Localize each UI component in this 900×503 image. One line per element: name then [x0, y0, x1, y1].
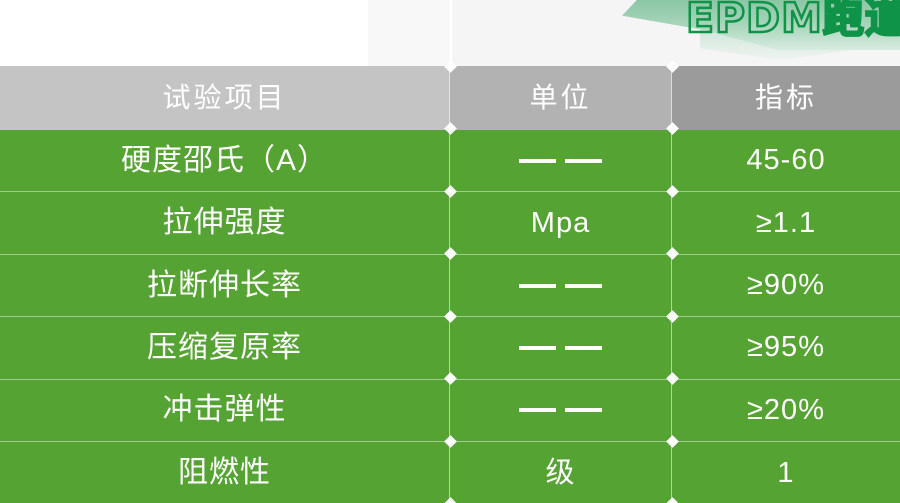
table-header-cell-unit: 单位: [450, 66, 672, 130]
table-cell-text: 45-60: [746, 146, 825, 175]
table-cell-item: 硬度邵氏（A）: [0, 130, 450, 192]
em-dash-pair-icon: [519, 159, 602, 163]
spec-table: 试验项目单位指标硬度邵氏（A）45-60拉伸强度Mpa≥1.1拉断伸长率≥90%…: [0, 66, 900, 503]
table-cell-item: 压缩复原率: [0, 317, 450, 379]
table-cell-value: ≥1.1: [672, 192, 900, 254]
table-row: 冲击弹性≥20%: [0, 380, 900, 442]
table-cell-text: ≥20%: [747, 396, 825, 425]
table-row: 压缩复原率≥95%: [0, 317, 900, 379]
table-cell-text: 冲击弹性: [163, 395, 287, 425]
table-cell-unit: [450, 317, 672, 379]
table-cell-unit: Mpa: [450, 192, 672, 254]
table-cell-text: ≥90%: [747, 271, 825, 300]
table-cell-text: Mpa: [531, 209, 590, 238]
table-cell-unit: [450, 380, 672, 442]
top-panel-left: [368, 0, 450, 66]
table-cell-text: 压缩复原率: [147, 333, 302, 363]
table-header-label: 指标: [755, 84, 817, 112]
table-cell-text: 拉断伸长率: [147, 271, 302, 301]
top-banner-area: EPDM跑道: [0, 0, 900, 66]
table-cell-item: 拉伸强度: [0, 192, 450, 254]
table-header-row: 试验项目单位指标: [0, 66, 900, 130]
table-cell-text: 拉伸强度: [163, 208, 287, 238]
table-header-label: 试验项目: [162, 84, 286, 112]
table-header-cell-value: 指标: [672, 66, 900, 130]
table-cell-item: 阻燃性: [0, 442, 450, 503]
em-dash-pair-icon: [519, 408, 602, 412]
table-cell-text: ≥95%: [747, 333, 825, 362]
table-cell-unit: 级: [450, 442, 672, 503]
table-cell-text: 阻燃性: [178, 458, 271, 488]
table-cell-value: 45-60: [672, 130, 900, 192]
table-row: 硬度邵氏（A）45-60: [0, 130, 900, 192]
table-cell-unit: [450, 130, 672, 192]
table-cell-value: ≥90%: [672, 255, 900, 317]
table-cell-item: 拉断伸长率: [0, 255, 450, 317]
table-header-cell-item: 试验项目: [0, 66, 450, 130]
table-cell-value: ≥20%: [672, 380, 900, 442]
table-cell-item: 冲击弹性: [0, 380, 450, 442]
table-row: 拉断伸长率≥90%: [0, 255, 900, 317]
table-cell-value: 1: [672, 442, 900, 503]
page-root: EPDM跑道 试验项目单位指标硬度邵氏（A）45-60拉伸强度Mpa≥1.1拉断…: [0, 0, 900, 503]
table-cell-value: ≥95%: [672, 317, 900, 379]
watermark-logo-text: EPDM跑道: [686, 0, 900, 41]
table-cell-text: 1: [777, 459, 794, 488]
table-cell-unit: [450, 255, 672, 317]
table-cell-text: 级: [545, 459, 575, 488]
em-dash-pair-icon: [519, 346, 602, 350]
table-cell-text: 硬度邵氏（A）: [121, 146, 328, 176]
table-cell-text: ≥1.1: [756, 209, 816, 238]
em-dash-pair-icon: [519, 284, 602, 288]
table-row: 拉伸强度Mpa≥1.1: [0, 192, 900, 254]
table-row: 阻燃性级1: [0, 442, 900, 503]
table-header-label: 单位: [529, 84, 591, 112]
